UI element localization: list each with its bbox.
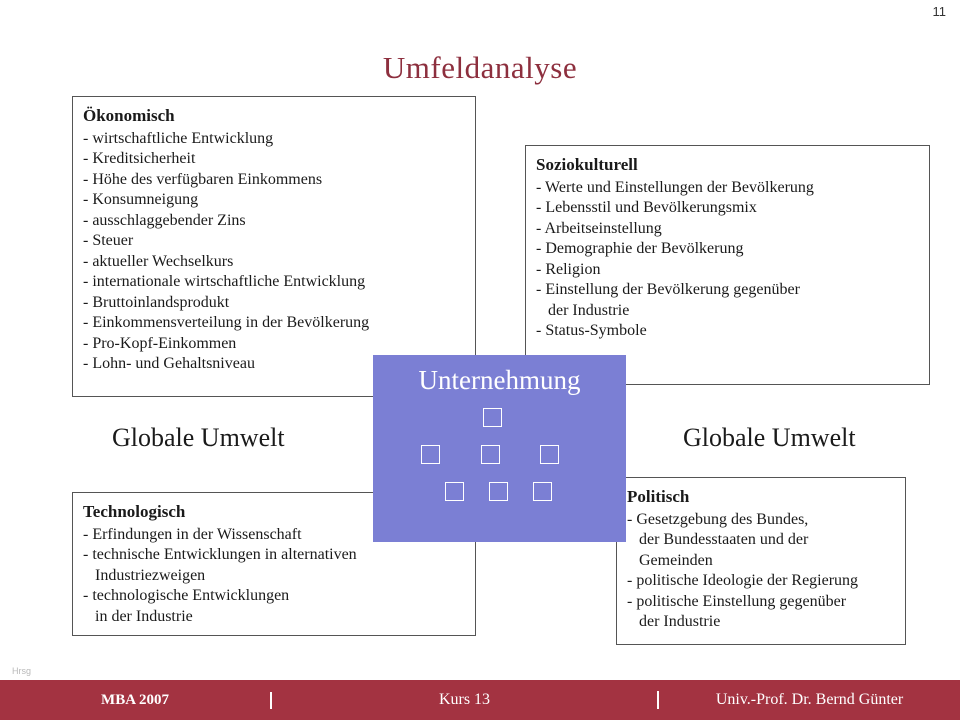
box-oekonomisch-line: - Pro-Kopf-Einkommen [83,334,465,354]
box-oekonomisch-line: - wirtschaftliche Entwicklung [83,129,465,149]
box-soziokulturell-line: - Werte und Einstellungen der Bevölkerun… [536,178,919,198]
footer-right-text: Univ.-Prof. Dr. Bernd Günter [659,691,960,709]
box-oekonomisch: Ökonomisch - wirtschaftliche Entwicklung… [72,96,476,397]
box-politisch-line: der Industrie [627,612,895,632]
box-oekonomisch-line: - internationale wirtschaftliche Entwick… [83,272,465,292]
slide-canvas: 11 Umfeldanalyse Ökonomisch - wirtschaft… [0,0,960,720]
box-soziokulturell-line: - Einstellung der Bevölkerung gegenüber [536,280,919,300]
unit-square-icon [489,482,508,501]
unit-square-icon [483,408,502,427]
box-oekonomisch-line: - aktueller Wechselkurs [83,252,465,272]
footer-bar: MBA 2007 Kurs 13 Univ.-Prof. Dr. Bernd G… [0,680,960,720]
box-oekonomisch-line: - Kreditsicherheit [83,149,465,169]
unit-square-icon [481,445,500,464]
corner-watermark: Hrsg [12,666,31,676]
label-globale-umwelt-right: Globale Umwelt [683,423,856,453]
box-politisch-line: Gemeinden [627,551,895,571]
box-oekonomisch-line: - Einkommensverteilung in der Bevölkerun… [83,313,465,333]
box-soziokulturell-line: - Demographie der Bevölkerung [536,239,919,259]
box-soziokulturell-line: - Status-Symbole [536,321,919,341]
footer-left-text: MBA 2007 [0,692,272,709]
unit-square-icon [533,482,552,501]
box-oekonomisch-line: - Höhe des verfügbaren Einkommens [83,170,465,190]
label-globale-umwelt-left: Globale Umwelt [112,423,285,453]
box-soziokulturell-line: - Religion [536,260,919,280]
unternehmung-label: Unternehmung [373,365,626,396]
box-oekonomisch-line: - Bruttoinlandsprodukt [83,293,465,313]
box-soziokulturell-line: - Lebensstil und Bevölkerungsmix [536,198,919,218]
box-technologisch-line: Industriezweigen [83,566,465,586]
box-politisch-line: der Bundesstaaten und der [627,530,895,550]
page-title: Umfeldanalyse [0,50,960,86]
box-politisch-line: - politische Ideologie der Regierung [627,571,895,591]
box-technologisch-line: - technische Entwicklungen in alternativ… [83,545,465,565]
footer-center-text: Kurs 13 [272,691,659,709]
box-politisch: Politisch - Gesetzgebung des Bundes, der… [616,477,906,645]
box-technologisch-line: in der Industrie [83,607,465,627]
box-oekonomisch-title: Ökonomisch [83,105,465,128]
box-oekonomisch-line: - ausschlaggebender Zins [83,211,465,231]
box-politisch-line: - politische Einstellung gegenüber [627,592,895,612]
box-soziokulturell-line: - Arbeitseinstellung [536,219,919,239]
box-politisch-title: Politisch [627,486,895,509]
unternehmung-block: Unternehmung [373,355,626,542]
unit-square-icon [540,445,559,464]
box-soziokulturell-line: der Industrie [536,301,919,321]
box-technologisch-line: - technologische Entwicklungen [83,586,465,606]
unit-square-icon [421,445,440,464]
box-oekonomisch-line: - Steuer [83,231,465,251]
box-soziokulturell-title: Soziokulturell [536,154,919,177]
page-number: 11 [933,4,947,19]
box-oekonomisch-line: - Konsumneigung [83,190,465,210]
box-soziokulturell: Soziokulturell - Werte und Einstellungen… [525,145,930,385]
box-politisch-line: - Gesetzgebung des Bundes, [627,510,895,530]
unit-square-icon [445,482,464,501]
